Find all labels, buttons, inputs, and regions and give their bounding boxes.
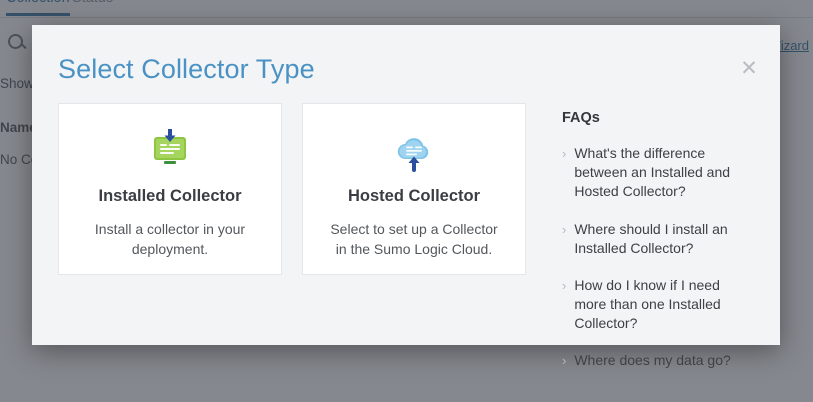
collector-type-cards: Installed Collector Install a collector … — [58, 103, 526, 389]
select-collector-type-dialog: ✕ Select Collector Type — [32, 25, 780, 345]
chevron-right-icon: › — [562, 220, 566, 258]
hosted-collector-icon — [391, 128, 437, 174]
faqs-heading: FAQs — [562, 110, 754, 126]
card-description: Select to set up a Collector in the Sumo… — [323, 219, 505, 260]
faq-item[interactable]: › Where should I install an Installed Co… — [562, 220, 754, 258]
card-hosted-collector[interactable]: Hosted Collector Select to set up a Coll… — [302, 103, 526, 275]
faq-link[interactable]: What's the difference between an Install… — [574, 144, 754, 202]
card-installed-collector[interactable]: Installed Collector Install a collector … — [58, 103, 282, 275]
dialog-body: Installed Collector Install a collector … — [32, 103, 780, 389]
card-description: Install a collector in your deployment. — [79, 219, 261, 260]
faq-link[interactable]: Where does my data go? — [574, 351, 730, 370]
card-title: Installed Collector — [98, 187, 241, 206]
page-root: Collection Status Search Show: Name No C… — [0, 0, 813, 402]
faq-item[interactable]: › What's the difference between an Insta… — [562, 144, 754, 202]
faq-link[interactable]: How do I know if I need more than one In… — [574, 276, 754, 334]
close-icon[interactable]: ✕ — [738, 58, 760, 80]
chevron-right-icon: › — [562, 276, 566, 334]
dialog-title: Select Collector Type — [58, 54, 315, 85]
card-title: Hosted Collector — [348, 187, 480, 206]
faqs-panel: FAQs › What's the difference between an … — [562, 103, 754, 389]
faq-item[interactable]: › Where does my data go? — [562, 351, 754, 370]
installed-collector-icon — [147, 128, 193, 174]
faq-item[interactable]: › How do I know if I need more than one … — [562, 276, 754, 334]
chevron-right-icon: › — [562, 351, 566, 370]
faq-link[interactable]: Where should I install an Installed Coll… — [574, 220, 754, 258]
chevron-right-icon: › — [562, 144, 566, 202]
